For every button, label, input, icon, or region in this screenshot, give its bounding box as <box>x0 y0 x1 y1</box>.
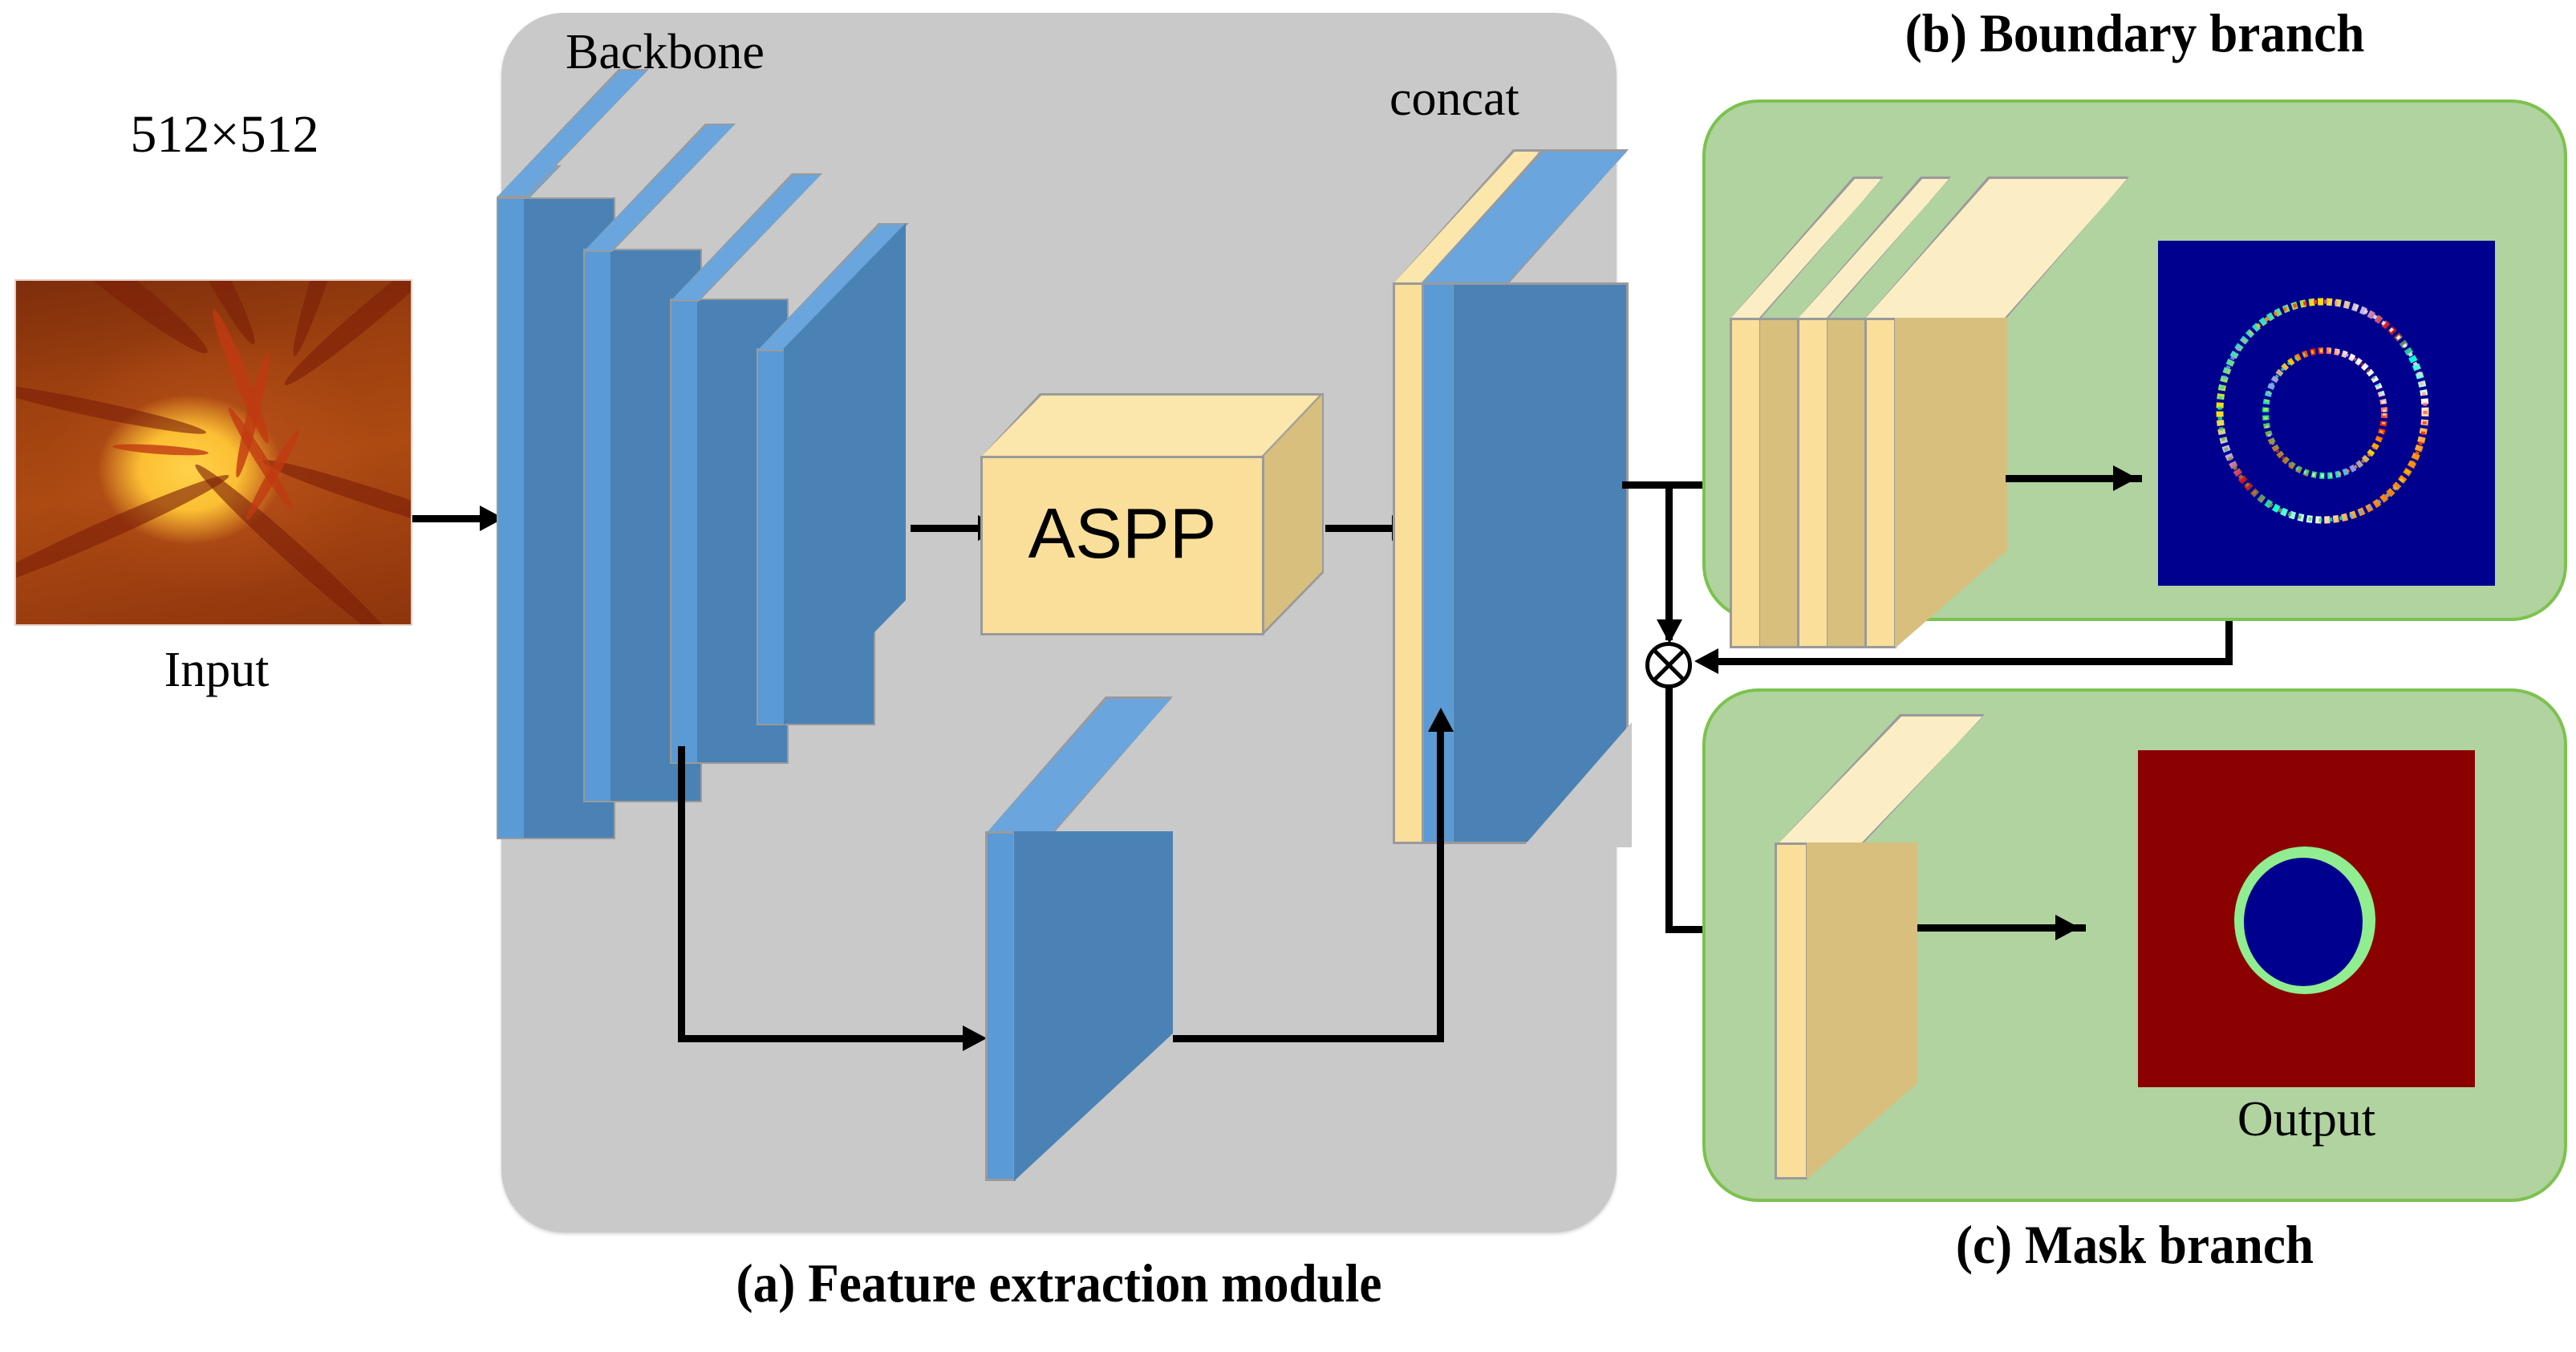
boundary-rings-svg <box>2158 241 2495 586</box>
mask-branch-caption: (c) Mask branch <box>1733 1213 2537 1277</box>
boundary-heatmap-image <box>2158 241 2495 586</box>
optic-cup-region <box>2244 858 2363 986</box>
mask-slab-face <box>1775 842 1808 1179</box>
boundary-slab-1-body <box>1760 318 1799 648</box>
split-vertical-head <box>1657 619 1682 644</box>
multiply-to-mask-vertical <box>1665 687 1673 932</box>
boundary-slab-2-face <box>1797 318 1829 648</box>
figure-canvas: 512×512 Input Backbone <box>0 0 2576 1352</box>
skip-arrow-head-to-lowlevel <box>963 1025 987 1051</box>
split-vertical-to-multiply <box>1665 481 1673 640</box>
boundary-slabs-to-heatmap-head <box>2113 465 2137 491</box>
feature-extraction-caption: (a) Feature extraction module <box>541 1252 1578 1315</box>
boundary-slab-2-body <box>1828 318 1866 648</box>
multiply-node <box>1645 642 1692 688</box>
aspp-label: ASPP <box>980 493 1264 574</box>
concat-yellow-slab-face <box>1393 282 1425 844</box>
input-fundus-image <box>14 279 412 626</box>
output-caption: Output <box>2138 1091 2475 1148</box>
boundary-feedback-head <box>1694 648 1718 674</box>
mask-slab-to-output-head <box>2055 915 2079 940</box>
input-size-label: 512×512 <box>100 104 349 165</box>
boundary-slab-3-face <box>1864 318 1897 648</box>
mask-shapes-svg <box>2138 750 2475 1087</box>
skip-line-vertical-down <box>678 746 685 1041</box>
boundary-branch-caption: (b) Boundary branch <box>1733 2 2537 65</box>
skip-line-horizontal <box>678 1035 975 1042</box>
mask-output-image <box>2138 750 2475 1087</box>
lowlevel-slab-edge <box>985 831 1016 1181</box>
lowlevel-to-concat-vertical <box>1437 730 1444 1038</box>
input-caption: Input <box>48 642 385 699</box>
lowlevel-to-concat-head <box>1428 708 1454 732</box>
concat-label: concat <box>1389 71 1519 128</box>
boundary-slab-1-face <box>1730 318 1762 648</box>
lowlevel-to-concat-horizontal <box>1173 1035 1444 1042</box>
boundary-feedback-horizontal <box>1707 658 2233 665</box>
